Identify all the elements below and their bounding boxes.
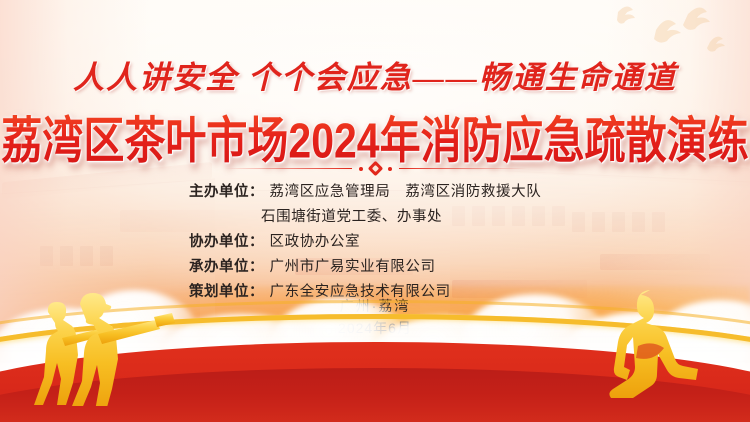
organizer-colon: ：: [249, 255, 270, 276]
organizer-value: 荔湾区应急管理局 荔湾区消防救援大队: [270, 180, 542, 201]
organizer-value: 广州市广易实业有限公司: [270, 255, 436, 276]
divider-line-left: [224, 168, 352, 170]
organizer-label: 承办单位: [189, 255, 249, 276]
organizer-row: 主办单位 ： 荔湾区应急管理局 荔湾区消防救援大队: [189, 180, 561, 201]
poster-slogan: 人人讲安全 个个会应急——畅通生命通道: [0, 52, 750, 97]
organizer-value: 区政协办公室: [270, 230, 361, 251]
organizer-row: 石围塘街道党工委、办事处: [189, 205, 561, 226]
divider-line-right: [399, 168, 527, 170]
divider-dot: [388, 167, 392, 171]
diamond-ornament-icon: [367, 161, 383, 177]
crouching-firefighter-silhouette: [592, 280, 712, 410]
decorative-divider: [0, 163, 750, 174]
organizer-indent-spacer: [189, 205, 261, 226]
organizer-label: 主办单位: [189, 180, 249, 201]
organizer-colon: ：: [249, 180, 270, 201]
organizer-row: 协办单位 ： 区政协办公室: [189, 230, 561, 251]
fire-drill-poster: 人人讲安全 个个会应急——畅通生命通道 荔湾区茶叶市场2024年消防应急疏散演练…: [0, 0, 750, 422]
firefighters-with-hose-silhouette: [18, 286, 178, 406]
organizer-label: 协办单位: [189, 230, 249, 251]
divider-dot: [359, 167, 363, 171]
organizer-value: 石围塘街道党工委、办事处: [261, 205, 442, 226]
organizer-row: 承办单位 ： 广州市广易实业有限公司: [189, 255, 561, 276]
organizer-colon: ：: [249, 230, 270, 251]
